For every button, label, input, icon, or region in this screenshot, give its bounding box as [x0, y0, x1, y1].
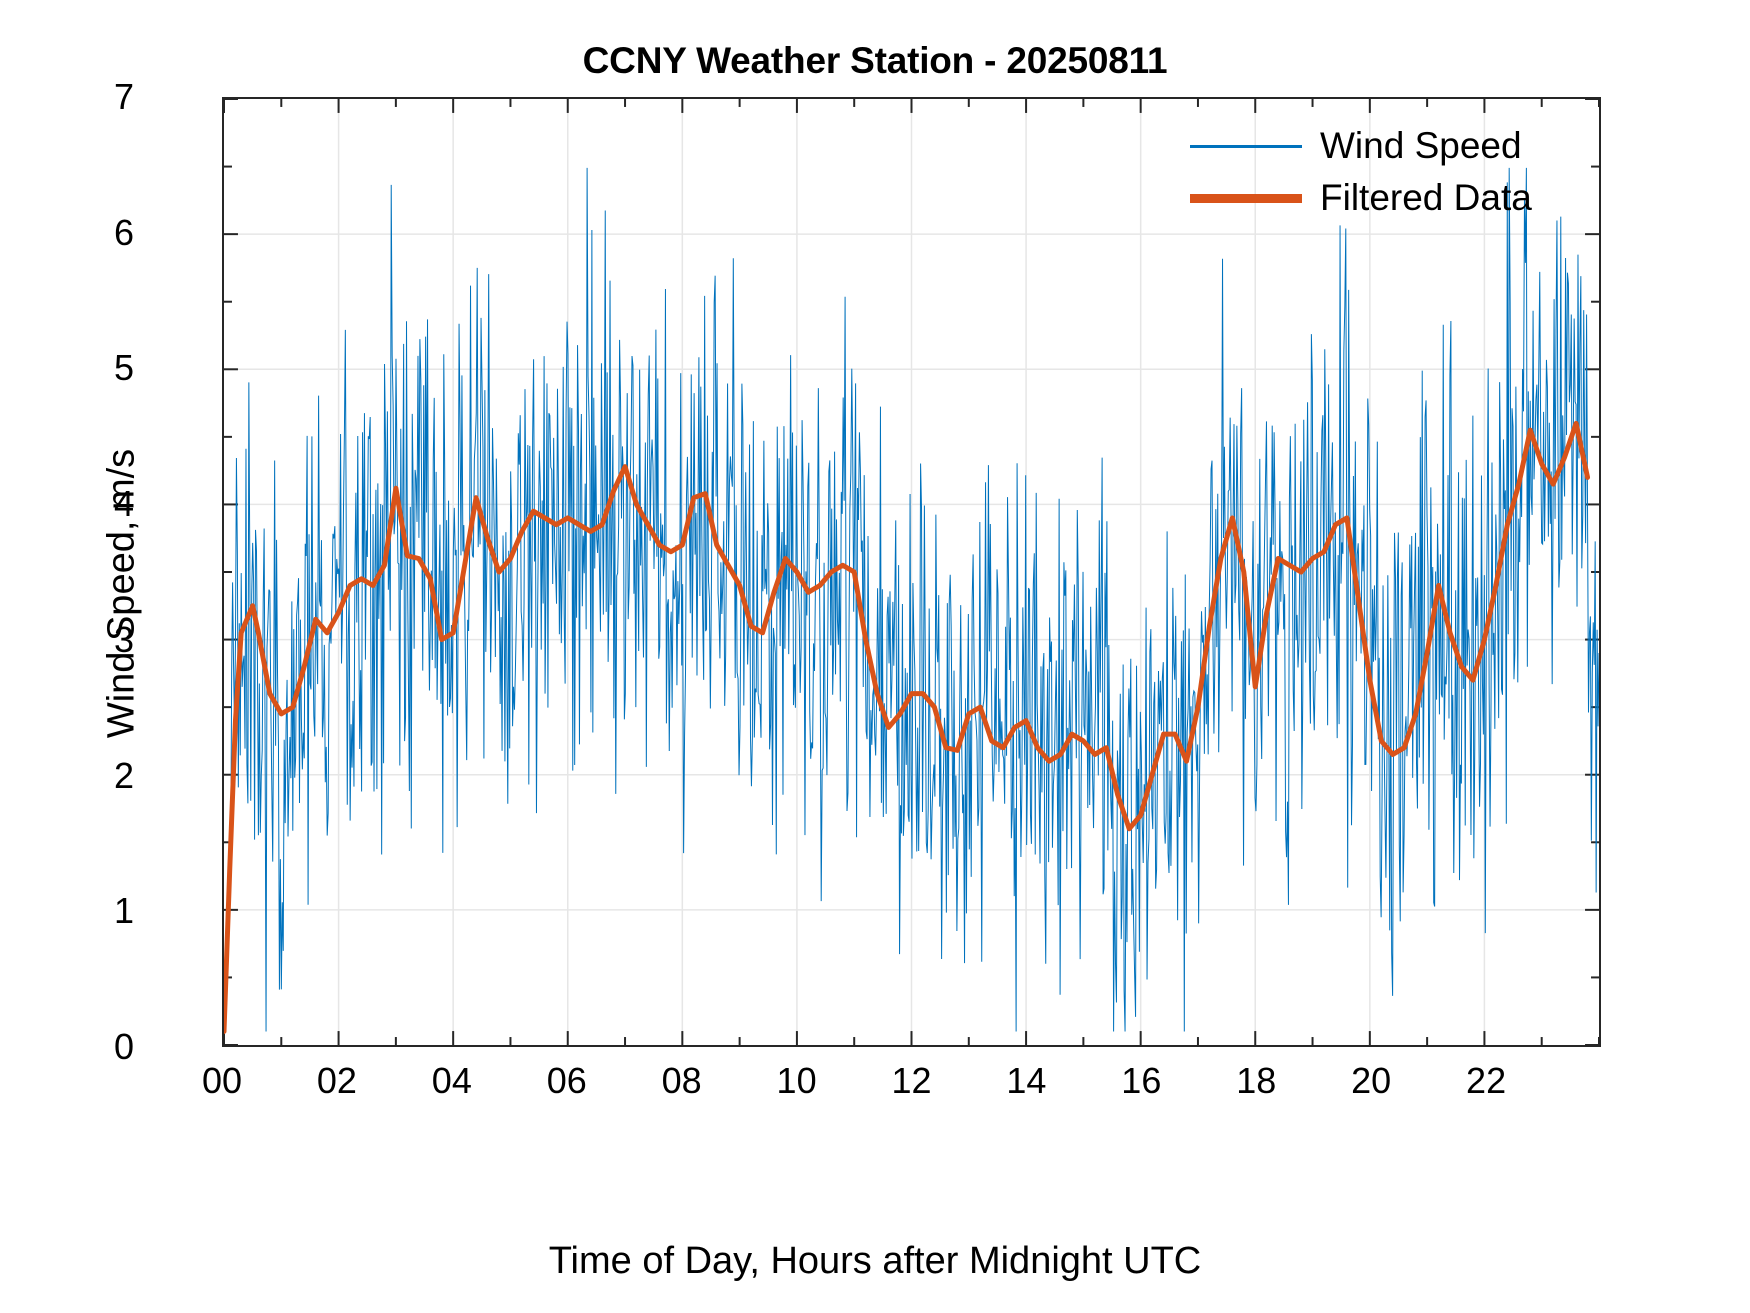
legend-label-filtered-data: Filtered Data	[1320, 177, 1532, 219]
x-tick-label: 04	[432, 1060, 472, 1102]
page-title: CCNY Weather Station - 20250811	[0, 40, 1750, 82]
y-tick-label: 4	[24, 483, 134, 525]
y-tick-label: 6	[24, 212, 134, 254]
x-tick-label: 16	[1121, 1060, 1161, 1102]
x-tick-label: 00	[202, 1060, 242, 1102]
y-tick-label: 1	[24, 890, 134, 932]
figure-container: CCNY Weather Station - 20250811 Wind Spe…	[0, 0, 1750, 1313]
legend-swatch-filtered-data	[1190, 194, 1302, 203]
y-tick-label: 2	[24, 755, 134, 797]
x-tick-label: 18	[1236, 1060, 1276, 1102]
x-tick-label: 02	[317, 1060, 357, 1102]
x-tick-label: 20	[1351, 1060, 1391, 1102]
series-wind-speed	[224, 168, 1599, 1032]
legend-swatch-wind-speed	[1190, 145, 1302, 148]
x-tick-label: 14	[1006, 1060, 1046, 1102]
x-tick-label: 06	[547, 1060, 587, 1102]
data-series-layer	[224, 99, 1599, 1045]
x-tick-label: 22	[1466, 1060, 1506, 1102]
y-tick-label: 7	[24, 76, 134, 118]
y-tick-label: 5	[24, 347, 134, 389]
x-tick-label: 08	[662, 1060, 702, 1102]
y-tick-label: 3	[24, 619, 134, 661]
legend-item-filtered-data[interactable]: Filtered Data	[1190, 172, 1570, 224]
x-tick-label: 12	[891, 1060, 931, 1102]
legend: Wind Speed Filtered Data	[1190, 120, 1570, 225]
x-tick-label: 10	[777, 1060, 817, 1102]
legend-label-wind-speed: Wind Speed	[1320, 125, 1522, 167]
plot-area	[222, 97, 1601, 1047]
legend-item-wind-speed[interactable]: Wind Speed	[1190, 120, 1570, 172]
x-axis-label: Time of Day, Hours after Midnight UTC	[0, 1240, 1750, 1283]
y-tick-label: 0	[24, 1026, 134, 1068]
